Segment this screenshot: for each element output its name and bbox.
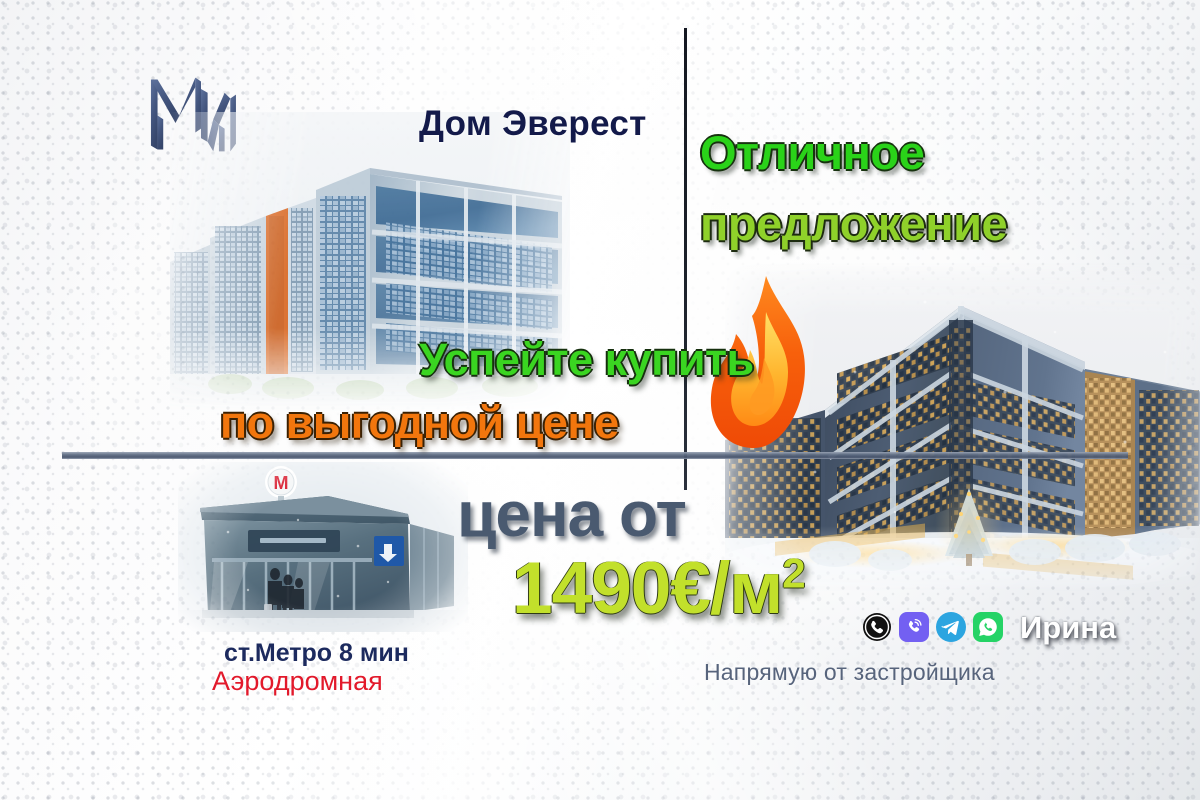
- price-unit-superscript: 2: [782, 550, 804, 597]
- metro-station-entrance-photo: M: [178, 462, 468, 632]
- whatsapp-icon[interactable]: [973, 612, 1003, 642]
- price-label: цена от: [457, 477, 686, 551]
- page-title: Дом Эверест: [419, 104, 647, 144]
- horizontal-divider-line: [62, 452, 1128, 459]
- developer-tagline: Напрямую от застройщика: [704, 659, 995, 686]
- offer-headline-line1: Отличное: [700, 125, 924, 180]
- real-estate-ad-poster: M: [0, 0, 1200, 800]
- urgency-headline-line2: по выгодной цене: [220, 397, 619, 449]
- offer-headline-line2: предложение: [700, 196, 1007, 251]
- telegram-icon[interactable]: [936, 612, 966, 642]
- metro-walk-time: ст.Метро 8 мин: [224, 639, 409, 668]
- svg-text:M: M: [274, 473, 289, 493]
- price-value: 1490€/м2: [512, 547, 805, 630]
- vertical-divider-line: [684, 28, 687, 490]
- urgency-headline-line1: Успейте купить: [419, 334, 754, 386]
- agent-name: Ирина: [1020, 610, 1116, 646]
- contact-icons-row: [862, 612, 1003, 642]
- viber-icon[interactable]: [899, 612, 929, 642]
- price-amount: 1490€/м: [512, 548, 782, 629]
- metro-station-name: Аэродромная: [212, 666, 383, 697]
- phone-icon[interactable]: [862, 612, 892, 642]
